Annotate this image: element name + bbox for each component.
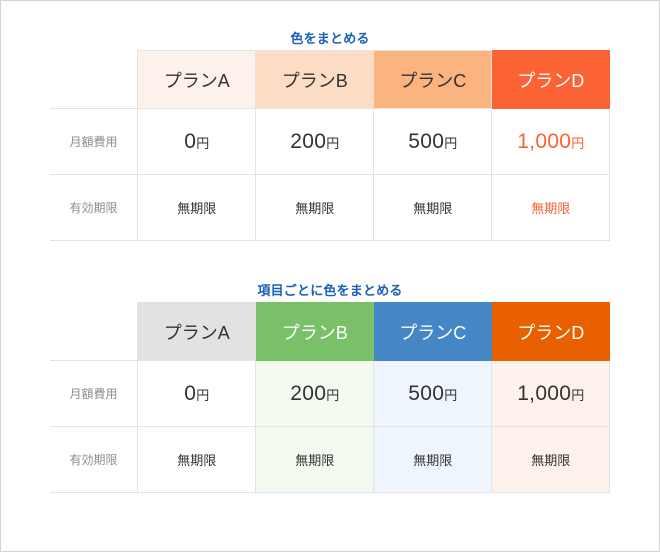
cell-monthly-fee-plan-b: 200円: [256, 109, 374, 175]
plan-table-per-item-color: プランA プランB プランC プランD 月額費用 0円 200円 500円: [50, 302, 611, 493]
cell-value: 1,000: [517, 130, 571, 153]
cell-expiry-plan-b: 無期限: [256, 427, 374, 493]
cell-expiry-plan-a: 無期限: [138, 175, 256, 241]
column-header-plan-b: プランB: [256, 303, 374, 361]
row-label-monthly-fee: 月額費用: [50, 361, 138, 427]
cell-unit: 円: [326, 136, 339, 151]
table-row: 有効期限 無期限 無期限 無期限 無期限: [50, 427, 610, 493]
cell-expiry-plan-d: 無期限: [492, 175, 610, 241]
column-header-plan-c: プランC: [374, 51, 492, 109]
table-row: 有効期限 無期限 無期限 無期限 無期限: [50, 175, 610, 241]
cell-monthly-fee-plan-c: 500円: [374, 109, 492, 175]
cell-monthly-fee-plan-d: 1,000円: [492, 361, 610, 427]
cell-value: 無期限: [531, 201, 570, 216]
cell-expiry-plan-b: 無期限: [256, 175, 374, 241]
column-header-plan-a: プランA: [138, 303, 256, 361]
cell-unit: 円: [196, 136, 209, 151]
cell-value: 500: [408, 130, 444, 153]
cell-unit: 円: [196, 388, 209, 403]
section-title-color-grouped: 色をまとめる: [1, 28, 659, 50]
cell-value: 無期限: [295, 201, 334, 216]
cell-expiry-plan-d: 無期限: [492, 427, 610, 493]
cell-expiry-plan-c: 無期限: [374, 427, 492, 493]
cell-value: 無期限: [531, 453, 570, 468]
cell-monthly-fee-plan-c: 500円: [374, 361, 492, 427]
cell-unit: 円: [444, 388, 457, 403]
section-title-per-item-color: 項目ごとに色をまとめる: [1, 280, 659, 302]
table-row: 月額費用 0円 200円 500円 1,000円: [50, 361, 610, 427]
cell-value: 0: [184, 382, 196, 405]
cell-value: 無期限: [177, 453, 216, 468]
cell-value: 200: [290, 130, 326, 153]
cell-monthly-fee-plan-d: 1,000円: [492, 109, 610, 175]
cell-expiry-plan-c: 無期限: [374, 175, 492, 241]
column-header-plan-c: プランC: [374, 303, 492, 361]
plan-table-color-grouped: プランA プランB プランC プランD 月額費用 0円 200円 500円: [50, 50, 611, 241]
cell-unit: 円: [326, 388, 339, 403]
row-label-monthly-fee: 月額費用: [50, 109, 138, 175]
cell-monthly-fee-plan-b: 200円: [256, 361, 374, 427]
cell-unit: 円: [571, 388, 584, 403]
column-header-plan-b: プランB: [256, 51, 374, 109]
cell-value: 200: [290, 382, 326, 405]
section-per-item-color: 項目ごとに色をまとめる プランA プランB プランC プランD 月額費用 0円: [1, 280, 659, 493]
table-row: 月額費用 0円 200円 500円 1,000円: [50, 109, 610, 175]
cell-value: 0: [184, 130, 196, 153]
page-frame: 色をまとめる プランA プランB プランC プランD 月額費用 0円: [0, 0, 660, 552]
column-header-plan-d: プランD: [492, 303, 610, 361]
row-label-expiry: 有効期限: [50, 427, 138, 493]
row-label-expiry: 有効期限: [50, 175, 138, 241]
cell-unit: 円: [444, 136, 457, 151]
cell-value: 1,000: [517, 382, 571, 405]
table-corner-cell: [50, 303, 138, 361]
cell-value: 無期限: [295, 453, 334, 468]
cell-value: 無期限: [413, 453, 452, 468]
column-header-plan-d: プランD: [492, 51, 610, 109]
cell-value: 500: [408, 382, 444, 405]
table-header-row: プランA プランB プランC プランD: [50, 51, 610, 109]
cell-monthly-fee-plan-a: 0円: [138, 361, 256, 427]
table-header-row: プランA プランB プランC プランD: [50, 303, 610, 361]
section-color-grouped: 色をまとめる プランA プランB プランC プランD 月額費用 0円: [1, 28, 659, 241]
cell-monthly-fee-plan-a: 0円: [138, 109, 256, 175]
column-header-plan-a: プランA: [138, 51, 256, 109]
cell-expiry-plan-a: 無期限: [138, 427, 256, 493]
cell-value: 無期限: [413, 201, 452, 216]
table-corner-cell: [50, 51, 138, 109]
cell-unit: 円: [571, 136, 584, 151]
cell-value: 無期限: [177, 201, 216, 216]
